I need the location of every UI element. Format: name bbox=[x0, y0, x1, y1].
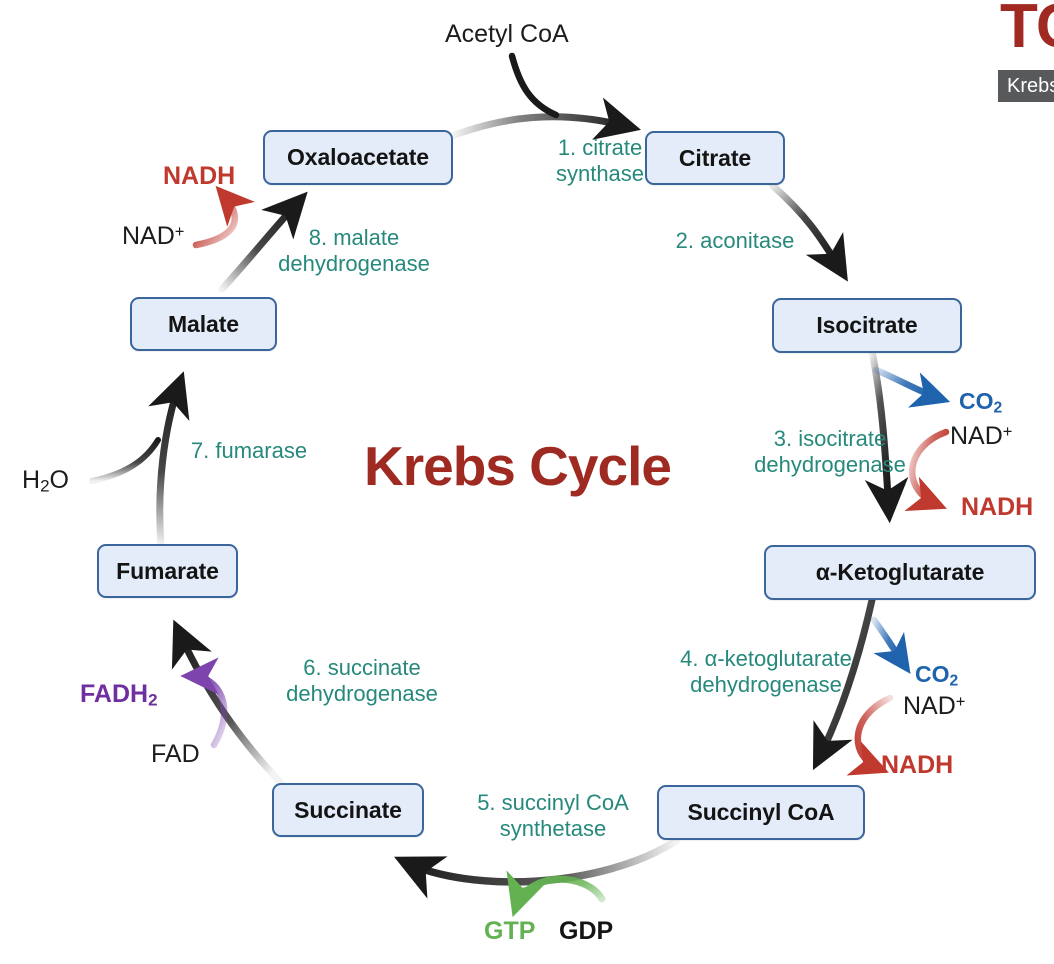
label-nadh-step-4: NADH bbox=[881, 753, 953, 778]
node-succinate[interactable]: Succinate bbox=[272, 783, 424, 837]
nad-to-nadh-step-8 bbox=[196, 193, 235, 245]
gdp-to-gtp-arrow bbox=[516, 879, 602, 907]
fad-to-fadh2-arrow bbox=[190, 676, 224, 745]
label-gtp: GTP bbox=[484, 919, 535, 944]
enzyme-label-5: 5. succinyl CoA synthetase bbox=[438, 790, 668, 841]
acetyl-coa-feeder-arrow bbox=[512, 56, 556, 115]
co2-branch-step-3 bbox=[876, 370, 941, 399]
tooltip-label[interactable]: Krebs bbox=[998, 70, 1054, 102]
clipped-heading-letter: TC bbox=[1000, 0, 1054, 58]
enzyme-label-2: 2. aconitase bbox=[630, 228, 840, 254]
label-nad-step-3: NAD+ bbox=[950, 424, 1012, 449]
enzyme-label-6: 6. succinate dehydrogenase bbox=[248, 655, 476, 706]
label-nadh-step-3: NADH bbox=[961, 495, 1033, 520]
arrow-step-5 bbox=[405, 841, 676, 882]
label-co2-step-3: CO2 bbox=[959, 390, 1002, 416]
label-water: H2O bbox=[22, 468, 69, 495]
label-nad-step-4: NAD+ bbox=[903, 694, 965, 719]
krebs-cycle-diagram: Krebs Cycle Oxaloacetate Citrate Isocitr… bbox=[0, 0, 1054, 964]
node-succinyl-coa[interactable]: Succinyl CoA bbox=[657, 785, 865, 840]
enzyme-label-4: 4. α-ketoglutarate dehydrogenase bbox=[635, 646, 897, 697]
label-acetyl-coa: Acetyl CoA bbox=[445, 22, 569, 47]
node-oxaloacetate[interactable]: Oxaloacetate bbox=[263, 130, 453, 185]
water-feeder-arrow bbox=[92, 440, 158, 481]
node-alpha-ketoglutarate[interactable]: α-Ketoglutarate bbox=[764, 545, 1036, 600]
enzyme-label-1: 1. citrate synthase bbox=[505, 135, 695, 186]
enzyme-label-3: 3. isocitrate dehydrogenase bbox=[724, 426, 936, 477]
arrow-step-1 bbox=[452, 117, 630, 136]
label-gdp: GDP bbox=[559, 919, 613, 944]
label-fad: FAD bbox=[151, 742, 200, 767]
node-fumarate[interactable]: Fumarate bbox=[97, 544, 238, 598]
label-nadh-step-8: NADH bbox=[163, 164, 235, 189]
label-co2-step-4: CO2 bbox=[915, 663, 958, 689]
label-fadh2: FADH2 bbox=[80, 682, 158, 709]
enzyme-label-7: 7. fumarase bbox=[163, 438, 335, 464]
enzyme-label-8: 8. malate dehydrogenase bbox=[258, 225, 450, 276]
page-title: Krebs Cycle bbox=[364, 434, 671, 498]
label-nad-step-8: NAD+ bbox=[122, 224, 184, 249]
node-malate[interactable]: Malate bbox=[130, 297, 277, 351]
node-isocitrate[interactable]: Isocitrate bbox=[772, 298, 962, 353]
